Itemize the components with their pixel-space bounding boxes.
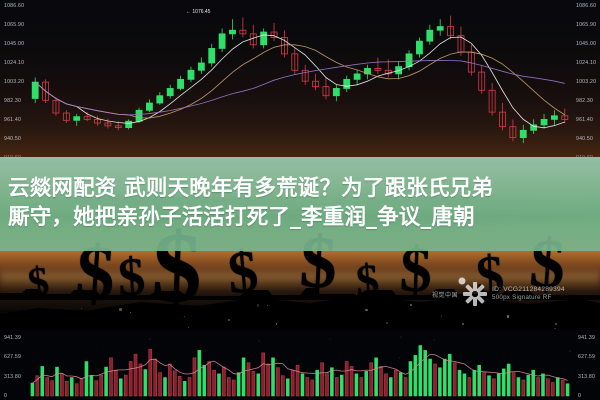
volume-bar <box>541 374 544 396</box>
volume-bar <box>551 382 554 396</box>
volume-bar <box>443 359 446 396</box>
moving-average-line <box>35 60 565 115</box>
volume-bar <box>527 375 530 396</box>
volume-bar <box>124 375 127 396</box>
candle-body <box>427 30 433 41</box>
candle-body <box>188 70 194 79</box>
volume-bar <box>468 378 471 396</box>
volume-bar <box>247 363 250 396</box>
volume-bar <box>90 376 93 396</box>
candlestick-svg <box>0 0 600 165</box>
price-tick-label: 940.50 <box>4 136 21 142</box>
volume-bar <box>335 378 338 396</box>
dust-speck <box>365 309 367 311</box>
candle-body <box>178 79 184 88</box>
dust-speck <box>410 304 412 306</box>
burst-core <box>459 278 466 285</box>
volume-bar <box>350 366 353 396</box>
volume-bar <box>433 364 436 396</box>
price-tick-label: 961.40 <box>576 117 593 123</box>
volume-bar <box>129 361 132 396</box>
volume-bar <box>60 374 63 396</box>
volume-bar <box>109 358 112 396</box>
volume-bar <box>208 361 211 396</box>
headline-line-2: 厮守，她把亲孙子活活打死了_李重润_争议_唐朝 <box>8 204 592 233</box>
candle-body <box>209 48 215 63</box>
price-tick-label: 982.30 <box>576 98 593 104</box>
volume-bar <box>95 381 98 396</box>
candle-body <box>219 34 225 49</box>
volume-bar <box>100 375 103 396</box>
candle-body <box>551 116 557 120</box>
volume-bar <box>242 358 245 396</box>
volume-bar <box>41 366 44 396</box>
volume-bar <box>487 376 490 396</box>
volume-bar <box>276 368 279 396</box>
candle-body <box>136 110 142 121</box>
volume-bar <box>375 358 378 396</box>
volume-bar <box>458 370 461 396</box>
volume-bar <box>556 378 559 396</box>
volume-bar <box>512 373 515 396</box>
watermark-id-label: ID: VCG211284289394 <box>492 286 565 294</box>
volume-bar <box>144 370 147 396</box>
volume-bar <box>105 367 108 396</box>
stock-photo-watermark: 视觉中国 ID: VCG211284289394 500px Signature… <box>432 281 565 307</box>
dust-speck <box>81 308 82 309</box>
price-tick-label: 1024.10 <box>4 60 24 66</box>
dust-speck <box>462 323 464 325</box>
volume-bar <box>80 378 83 396</box>
volume-bar <box>306 378 309 396</box>
volume-bar <box>286 379 289 396</box>
volume-bar <box>566 384 569 396</box>
volume-bar <box>419 345 422 396</box>
volume-bar <box>389 378 392 396</box>
volume-tick-label: 627.59 <box>578 354 595 360</box>
candle-body <box>344 79 350 88</box>
volume-bar <box>330 368 333 396</box>
watermark-text-block: ID: VCG211284289394 500px Signature RF <box>492 286 565 302</box>
volume-bar <box>325 373 328 396</box>
volume-bar <box>379 366 382 396</box>
volume-bar <box>262 353 265 396</box>
candle-body <box>146 103 152 110</box>
volume-tick-label: 0 <box>578 393 581 399</box>
price-tick-label: 1045.00 <box>576 41 596 47</box>
volume-bar <box>463 374 466 396</box>
volume-bar <box>227 378 230 396</box>
candle-body <box>126 121 132 127</box>
volume-bar <box>507 364 510 396</box>
volume-bar <box>31 383 34 396</box>
dust-speck <box>276 323 278 325</box>
price-tick-label: 1045.00 <box>4 41 24 47</box>
volume-bar <box>70 378 73 396</box>
candle-body <box>354 74 360 79</box>
headline-line-1: 云燚网配资 武则天晚年有多荒诞？为了跟张氏兄弟 <box>8 175 592 204</box>
volume-bar <box>198 350 201 396</box>
volume-bar <box>173 371 176 396</box>
volume-bar <box>193 358 196 396</box>
volume-bar <box>257 374 260 396</box>
volume-bar <box>232 380 235 396</box>
volume-chart-panel: 941.39627.59313.800 941.39627.59313.800 <box>0 330 600 400</box>
volume-bar <box>75 384 78 396</box>
candle-body <box>541 119 547 124</box>
price-tick-label: 982.30 <box>4 98 21 104</box>
volume-bar <box>213 370 216 396</box>
dust-speck <box>184 316 185 317</box>
volume-bar <box>532 370 535 396</box>
volume-bar <box>316 370 319 396</box>
candle-body <box>32 82 38 98</box>
volume-bar <box>159 373 162 396</box>
burst-ray <box>476 295 485 304</box>
volume-bar <box>252 371 255 396</box>
volume-bar <box>119 379 122 396</box>
volume-bar <box>409 361 412 396</box>
volume-bar <box>517 378 520 396</box>
volume-bar <box>394 370 397 396</box>
price-tick-label: 1003.20 <box>4 79 24 85</box>
volume-bar <box>237 373 240 396</box>
price-tick-label: 1086.60 <box>576 3 596 9</box>
volume-bar <box>473 370 476 396</box>
volume-bar <box>478 365 481 396</box>
volume-bar <box>301 374 304 396</box>
dust-speck <box>507 315 509 317</box>
volume-bar <box>429 359 432 396</box>
price-annotation-label: ← 1076.45 <box>186 9 210 15</box>
dust-speck <box>119 308 122 311</box>
candle-body <box>157 96 163 103</box>
volume-bar <box>546 379 549 396</box>
volume-bar <box>178 376 181 396</box>
volume-bar <box>365 371 368 396</box>
dust-speck <box>188 327 189 328</box>
volume-bar <box>134 354 137 396</box>
volume-bar <box>414 355 417 396</box>
moving-average-line <box>35 45 565 118</box>
volume-bar <box>203 365 206 396</box>
candle-body <box>416 41 422 54</box>
volume-bar <box>296 365 299 396</box>
price-tick-label: 940.50 <box>576 136 593 142</box>
watermark-brand-label: 视觉中国 <box>432 290 458 299</box>
volume-bar <box>502 369 505 396</box>
headline-banner: 云燚网配资 武则天晚年有多荒诞？为了跟张氏兄弟 厮守，她把亲孙子活活打死了_李重… <box>0 157 600 251</box>
price-tick-label: 1086.60 <box>4 3 24 9</box>
volume-bar <box>139 364 142 396</box>
volume-bar <box>65 381 68 396</box>
volume-bar <box>267 364 270 396</box>
price-tick-label: 1065.90 <box>4 22 24 28</box>
candle-body <box>74 117 80 121</box>
candle-body <box>333 88 339 95</box>
volume-bar <box>370 363 373 396</box>
volume-tick-label: 941.39 <box>4 335 21 341</box>
volume-bar <box>217 374 220 396</box>
volume-bar <box>340 375 343 396</box>
price-tick-label: 1003.20 <box>576 79 596 85</box>
volume-bar <box>149 349 152 396</box>
price-tick-label: 1024.10 <box>576 60 596 66</box>
candle-body <box>406 54 412 67</box>
volume-bar <box>537 378 540 396</box>
volume-bar <box>114 371 117 396</box>
volume-bar <box>483 373 486 396</box>
candle-body <box>167 88 173 95</box>
volume-bar <box>404 378 407 396</box>
volume-bar <box>438 368 441 396</box>
dust-speck <box>356 294 357 295</box>
candle-body <box>229 30 235 34</box>
volume-bar <box>222 367 225 396</box>
volume-bar <box>311 380 314 396</box>
candle-body <box>437 27 443 31</box>
candle-body <box>520 130 526 137</box>
volume-bar <box>46 378 49 396</box>
volume-bar <box>168 364 171 396</box>
candle-body <box>531 125 537 130</box>
volume-bar <box>522 380 525 396</box>
screenshot-stage: $$$$$$$$$$ 1086.601065.901045.001024.101… <box>0 0 600 400</box>
volume-bar <box>51 381 54 396</box>
price-chart-panel: 1086.601065.901045.001024.101003.20982.3… <box>0 0 600 165</box>
candle-body <box>261 32 267 45</box>
volume-bar <box>163 378 166 396</box>
volume-bar <box>355 374 358 396</box>
volume-bar <box>360 378 363 396</box>
dust-speck <box>441 316 442 317</box>
volume-bar <box>384 374 387 396</box>
sparkle-burst-icon <box>462 281 488 307</box>
volume-svg <box>0 330 600 400</box>
volume-bar <box>55 367 58 396</box>
volume-bar <box>345 361 348 396</box>
dust-speck <box>386 322 388 324</box>
candle-body <box>198 63 204 70</box>
volume-bar <box>188 378 191 396</box>
dust-speck <box>228 319 230 321</box>
volume-tick-label: 941.39 <box>578 335 595 341</box>
volume-bar <box>154 359 157 396</box>
volume-bar <box>281 376 284 396</box>
price-tick-label: 1065.90 <box>576 22 596 28</box>
volume-bar <box>399 373 402 396</box>
volume-bar <box>492 379 495 396</box>
volume-tick-label: 313.80 <box>578 374 595 380</box>
volume-tick-label: 0 <box>4 393 7 399</box>
volume-bar <box>291 370 294 396</box>
volume-bar <box>85 361 88 396</box>
volume-tick-label: 627.59 <box>4 354 21 360</box>
dust-speck <box>555 323 557 325</box>
volume-bar <box>453 363 456 396</box>
price-tick-label: 961.40 <box>4 117 21 123</box>
volume-bar <box>321 363 324 396</box>
volume-bar <box>497 374 500 396</box>
volume-tick-label: 313.80 <box>4 374 21 380</box>
dust-speck <box>130 312 132 314</box>
watermark-license-label: 500px Signature RF <box>492 294 565 302</box>
dust-speck <box>267 305 268 306</box>
volume-bar <box>561 380 564 396</box>
dust-speck <box>257 304 259 306</box>
volume-bar <box>183 381 186 396</box>
